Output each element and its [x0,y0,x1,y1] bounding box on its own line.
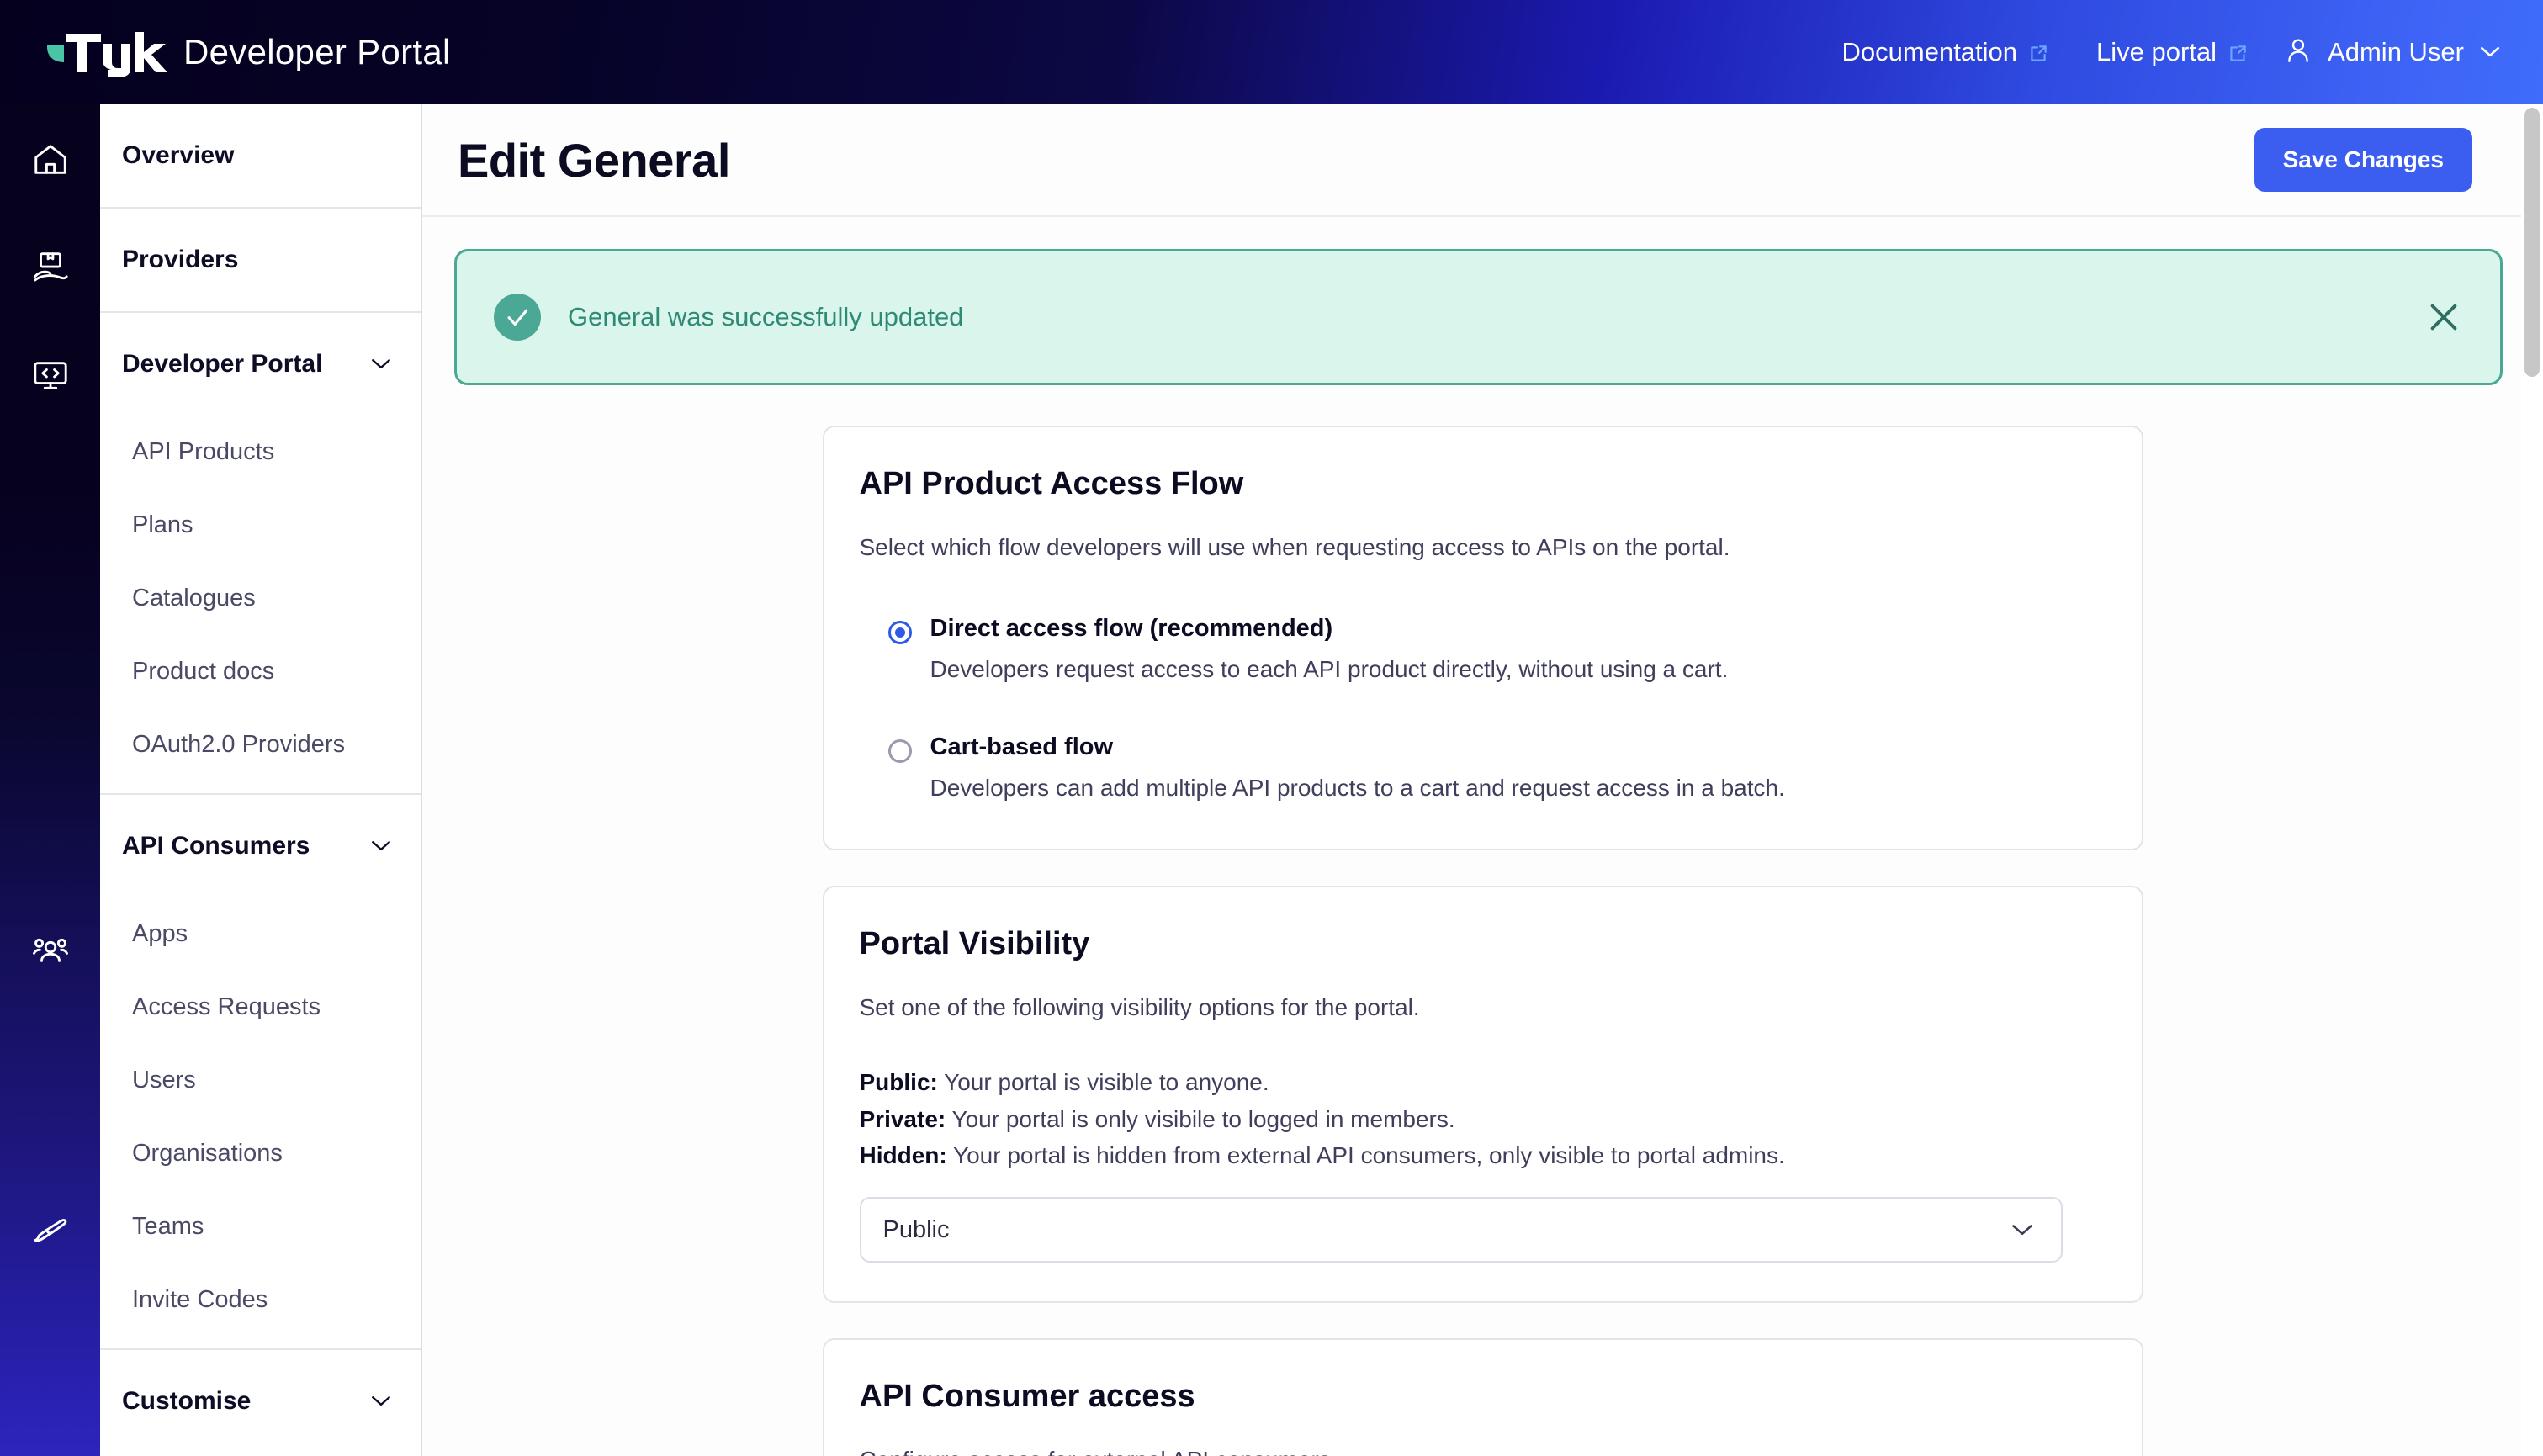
radio-label: Cart-based flow [930,734,1114,761]
sidebar-item-label: API Consumers [122,832,310,860]
sidebar-item-users[interactable]: Users [100,1044,421,1117]
radio-description: Developers request access to each API pr… [888,654,2106,685]
sidebar-item-customise[interactable]: Customise [100,1350,421,1453]
radio-option-cart-based-flow: Cart-based flow Developers can add multi… [888,734,2106,803]
access-flow-radio-group: Direct access flow (recommended) Develop… [860,616,2106,803]
api-consumers-people-icon [31,929,70,972]
card-description: Configure access for external API consum… [860,1443,2106,1456]
brand[interactable]: Developer Portal [42,27,451,77]
sidebar-item-developer-portal[interactable]: Developer Portal [100,313,421,416]
sidebar-navigation: Overview Providers Developer Portal API … [100,104,422,1456]
chevron-down-icon [2011,1223,2034,1237]
icon-rail [0,104,100,1456]
sidebar-item-oauth2-providers[interactable]: OAuth2.0 Providers [100,708,421,781]
top-navigation: Documentation Live portal [1819,35,2506,70]
chevron-down-icon [370,1395,392,1408]
sidebar-item-label: Access Requests [132,993,321,1021]
customise-paintbrush-icon [31,1214,70,1257]
top-header-bar: Developer Portal Documentation Live port… [0,0,2543,104]
sidebar-item-label: Customise [122,1387,251,1416]
visibility-term-hidden: Hidden: [860,1142,947,1168]
visibility-line-private: Private: Your portal is only visibile to… [860,1101,2106,1137]
sidebar-item-label: Catalogues [132,585,256,612]
sidebar-item-access-requests[interactable]: Access Requests [100,971,421,1044]
nav-group-api-consumers: API Consumers Apps Access Requests Users… [100,795,421,1350]
portal-visibility-select[interactable]: Public [860,1197,2063,1263]
user-name-label: Admin User [2328,37,2464,67]
portal-visibility-select-wrap: Public [860,1197,2106,1263]
visibility-text-hidden: Your portal is hidden from external API … [947,1142,1785,1168]
rail-item-home[interactable] [0,123,100,200]
card-title: API Consumer access [860,1379,2106,1415]
sidebar-item-label: Product docs [132,658,274,686]
sidebar-item-label: Users [132,1067,196,1094]
external-link-icon [2227,41,2249,63]
visibility-line-hidden: Hidden: Your portal is hidden from exter… [860,1137,2106,1173]
card-description: Select which flow developers will use wh… [860,531,2106,564]
radio-description: Developers can add multiple API products… [888,773,2106,803]
live-portal-link[interactable]: Live portal [2073,37,2272,67]
main-content: Edit General Save Changes General was su… [422,104,2543,1456]
rail-item-developer-portal[interactable] [0,338,100,416]
visibility-term-public: Public: [860,1069,938,1095]
nav-group-developer-portal: Developer Portal API Products Plans Cata… [100,313,421,795]
sidebar-item-organisations[interactable]: Organisations [100,1117,421,1190]
alert-message: General was successfully updated [568,302,2397,332]
card-portal-visibility: Portal Visibility Set one of the followi… [823,886,2143,1303]
user-menu[interactable]: Admin User [2272,35,2506,70]
sidebar-item-product-docs[interactable]: Product docs [100,635,421,708]
visibility-text-private: Your portal is only visibile to logged i… [946,1106,1454,1132]
page-header: Edit General Save Changes [422,104,2543,217]
close-icon[interactable] [2424,298,2463,336]
user-avatar-icon [2284,35,2313,70]
rail-item-providers[interactable] [0,230,100,308]
rail-item-customise[interactable] [0,1196,100,1273]
brand-title: Developer Portal [183,32,451,72]
tyk-logo [42,27,168,77]
sidebar-item-providers[interactable]: Providers [100,209,421,311]
sidebar-item-catalogues[interactable]: Catalogues [100,562,421,635]
visibility-option-descriptions: Public: Your portal is visible to anyone… [860,1064,2106,1173]
sidebar-item-label: Overview [122,141,234,170]
sidebar-item-api-consumers[interactable]: API Consumers [100,795,421,897]
documentation-label: Documentation [1842,37,2018,67]
sidebar-item-label: Plans [132,511,193,539]
sidebar-item-plans[interactable]: Plans [100,489,421,562]
settings-cards: API Product Access Flow Select which flo… [823,426,2143,1456]
home-icon [31,140,70,183]
card-title: Portal Visibility [860,926,2106,962]
sidebar-item-label: Organisations [132,1140,283,1167]
radio-cart-based-flow[interactable]: Cart-based flow [888,734,2106,763]
content-scroll-area: General was successfully updated API Pro… [422,249,2543,1456]
vertical-scrollbar-thumb[interactable] [2524,108,2540,377]
sidebar-item-invite-codes[interactable]: Invite Codes [100,1263,421,1337]
chevron-down-icon [370,357,392,371]
app-root: Developer Portal Documentation Live port… [0,0,2543,1456]
nav-group-overview: Overview [100,104,421,209]
card-description: Set one of the following visibility opti… [860,991,2106,1024]
sidebar-item-overview[interactable]: Overview [100,104,421,207]
radio-option-direct-access-flow: Direct access flow (recommended) Develop… [888,616,2106,685]
visibility-text-public: Your portal is visible to anyone. [938,1069,1269,1095]
save-changes-button[interactable]: Save Changes [2254,128,2472,192]
check-circle-icon [494,294,541,341]
portal-visibility-selected-value: Public [883,1216,950,1244]
sidebar-item-teams[interactable]: Teams [100,1190,421,1263]
sidebar-item-label: OAuth2.0 Providers [132,731,345,759]
nav-group-customise: Customise Themes [100,1350,421,1456]
page-title: Edit General [458,133,730,188]
radio-button-icon[interactable] [888,739,912,763]
sidebar-item-label: Apps [132,920,188,948]
sidebar-item-label: Invite Codes [132,1286,268,1314]
card-api-product-access-flow: API Product Access Flow Select which flo… [823,426,2143,850]
card-api-consumer-access: API Consumer access Configure access for… [823,1338,2143,1456]
card-title: API Product Access Flow [860,466,2106,502]
chevron-down-icon [370,839,392,853]
visibility-term-private: Private: [860,1106,946,1132]
sidebar-item-themes[interactable]: Themes [100,1453,421,1456]
sidebar-item-label: Providers [122,246,238,274]
sidebar-item-api-products[interactable]: API Products [100,416,421,489]
radio-direct-access-flow[interactable]: Direct access flow (recommended) [888,616,2106,644]
radio-button-icon[interactable] [888,621,912,644]
radio-label: Direct access flow (recommended) [930,616,1333,643]
sidebar-item-apps[interactable]: Apps [100,897,421,971]
sidebar-item-label: Developer Portal [122,350,322,379]
sidebar-item-label: API Products [132,438,274,466]
documentation-link[interactable]: Documentation [1819,37,2074,67]
live-portal-label: Live portal [2096,37,2217,67]
sidebar-item-label: Teams [132,1213,204,1241]
vertical-scrollbar-track[interactable] [2521,104,2543,1456]
nav-group-providers: Providers [100,209,421,313]
chevron-down-icon [2479,45,2501,59]
provider-hand-box-icon [31,248,70,291]
visibility-line-public: Public: Your portal is visible to anyone… [860,1064,2106,1100]
rail-item-api-consumers[interactable] [0,912,100,989]
external-link-icon [2027,41,2049,63]
developer-portal-screen-code-icon [31,356,70,399]
success-alert: General was successfully updated [454,249,2503,385]
